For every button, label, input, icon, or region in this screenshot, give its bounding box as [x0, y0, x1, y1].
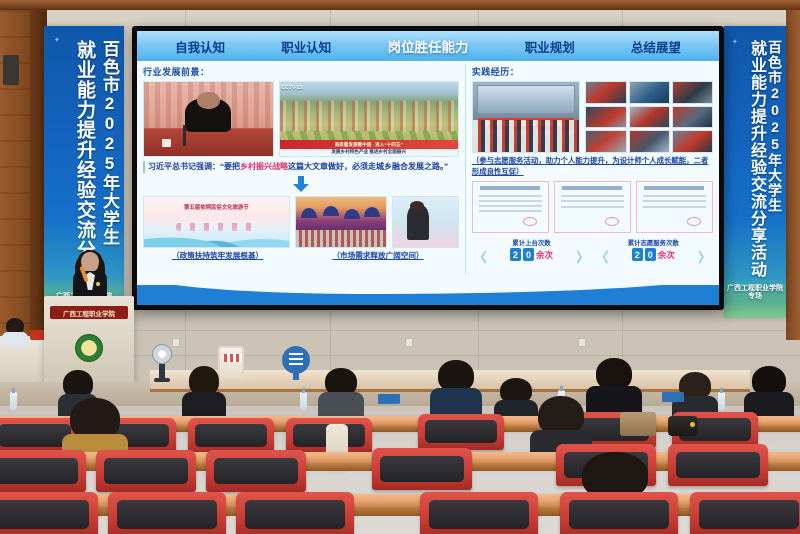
cert-line: [479, 200, 542, 202]
cert-line: [479, 195, 542, 197]
podium-nameplate: 广西工程职业学院: [50, 306, 128, 319]
photo-grid-volunteer-activities: [585, 81, 713, 153]
slide-footer-wave: [137, 285, 719, 305]
chair-pad: [699, 500, 798, 529]
trophy-cup-icon: [152, 344, 172, 364]
chair-pad: [214, 458, 298, 484]
photo-volunteer-group: [472, 81, 581, 153]
slide-nav-item-3-active[interactable]: 岗位胜任能力: [388, 36, 469, 56]
grid-photo: [629, 81, 670, 104]
cert-seal-icon: [605, 217, 619, 226]
stat-label: 累计上台次数: [512, 238, 550, 247]
cert-line: [561, 195, 624, 197]
water-bottle: [10, 392, 17, 410]
grid-photo: [672, 81, 713, 104]
audience-person: [62, 398, 128, 456]
chair-pad: [195, 424, 267, 446]
chair-pad: [0, 424, 71, 446]
village-roofs: [280, 101, 458, 132]
photo-leader-speech: [143, 81, 274, 157]
chair: [0, 492, 98, 534]
performance-crowd: [296, 230, 386, 247]
photo-village-aerial: CCTV-13 高质量发展看中国 · 进入“十四五” 发展乡村特色产业 推进乡村…: [279, 81, 459, 157]
chair: [418, 414, 504, 450]
cert-title-line: [562, 186, 622, 190]
cert-line: [479, 210, 542, 212]
audience-person: [744, 366, 794, 418]
slide-nav-item-2[interactable]: 职业认知: [281, 37, 331, 56]
water-bottle: [718, 392, 725, 410]
cert-line: [479, 205, 542, 207]
leader-quote: 习近平总书记强调：“要把乡村振兴战略这篇大文章做好，必须走城乡融合发展之路。”: [143, 161, 459, 173]
quote-prefix: 习近平总书记强调：: [148, 162, 220, 171]
auditorium-scene: ✦ ✦ 百色市2025年大学生 就业能力提升经验交流分享活动 广西工程职业学院 …: [0, 0, 800, 534]
stat-unit: 余次: [658, 249, 675, 261]
stat-unit: 余次: [536, 249, 553, 261]
chair: [188, 418, 274, 454]
grid-photo: [629, 106, 670, 129]
bracket-left-icon: 〈: [474, 247, 487, 266]
staff-person: [2, 318, 28, 344]
certificate: [636, 181, 713, 233]
cert-seal-icon: [687, 217, 701, 226]
grid-photo: [629, 130, 670, 153]
curtain-stripes: [144, 82, 273, 128]
microphone-icon: [183, 125, 186, 146]
audience-person: [430, 360, 482, 418]
channel-logo: CCTV-13: [282, 85, 303, 91]
chair: [560, 492, 678, 534]
right-caption: （参与志愿服务活动，助力个人能力提升，为设计师个人成长赋能，二者形成良性互促）: [472, 156, 713, 177]
caption-market-demand: （市场需求释放广阔空间）: [297, 250, 459, 261]
chair: [372, 448, 472, 490]
poster-mountains: [144, 222, 289, 247]
grid-photo: [585, 106, 626, 129]
umbrella-icon: [344, 209, 360, 219]
chair: [690, 492, 800, 534]
chair-pad: [0, 458, 78, 484]
trophy: [152, 344, 172, 382]
slide-nav-bar: 自我认知 职业认知 岗位胜任能力 职业规划 总结展望: [137, 31, 719, 61]
slide-nav-item-4[interactable]: 职业规划: [525, 37, 575, 56]
poster-title: 第五届侬垌民俗文化旅游节: [144, 203, 289, 211]
photo-market-booth: [392, 196, 459, 248]
umbrella-icon: [364, 207, 380, 217]
cert-seal-icon: [523, 217, 537, 226]
photo-folk-performance: [295, 196, 387, 248]
quote-rest: 这篇大文章做好，必须走城乡融合发展之路。”: [288, 162, 448, 171]
chair: [0, 450, 86, 492]
stats-row: 〈 〉 累计上台次数 2 0 余次 〈 〉 累计志愿: [472, 238, 713, 261]
quote-highlight: 乡村振兴战略: [240, 162, 288, 171]
grid-photo: [672, 106, 713, 129]
name-card: [662, 392, 684, 402]
left-section-title: 行业发展前景：: [143, 65, 459, 78]
teacup-icon: [162, 139, 171, 147]
chair-pad: [245, 500, 344, 529]
wood-panel-wall-right: [786, 10, 800, 340]
certificate: [554, 181, 631, 233]
left-caption-row: （政策扶持筑牢发展根基） （市场需求释放广阔空间）: [143, 250, 459, 261]
left-photo-row-2: 第五届侬垌民俗文化旅游节: [143, 196, 459, 248]
audience-person: [318, 368, 364, 418]
banner-right-subtitle: 广西工程职业学院 专场: [724, 285, 786, 303]
banner-right-line1: 百色市2025年大学生: [768, 40, 782, 213]
news-caption-bottom: 发展乡村特色产业 推进乡村全面振兴: [280, 149, 458, 155]
slide-right-column: 实践经历：: [465, 65, 713, 287]
chair: [108, 492, 226, 534]
stat-stage-appearances: 〈 〉 累计上台次数 2 0 余次: [474, 238, 590, 261]
certificate: [472, 181, 549, 233]
chair-pad: [569, 500, 668, 529]
certificate-row: [472, 181, 713, 233]
stat-value: 2 0 余次: [510, 248, 553, 261]
school-crest-icon: [75, 334, 103, 362]
audience-person: [586, 358, 642, 418]
cert-line: [643, 206, 706, 208]
right-section-title: 实践经历：: [472, 65, 713, 78]
chair-pad: [429, 500, 528, 529]
chair-pad: [425, 420, 497, 442]
booth-person-head: [410, 201, 424, 211]
water-bottle: [300, 392, 307, 410]
stat-digit: 2: [632, 248, 643, 261]
name-card: [378, 394, 400, 404]
grid-photo: [585, 81, 626, 104]
slide-body: 行业发展前景： CCTV-13: [137, 61, 719, 287]
chair: [96, 450, 196, 492]
lapel-pin-icon: [96, 282, 100, 286]
chair: [236, 492, 354, 534]
stat-digit: 0: [645, 248, 656, 261]
chair: [206, 450, 306, 492]
cert-line: [643, 200, 706, 202]
banner-left-line1: 百色市2025年大学生: [101, 40, 118, 246]
bird-icon: ✦: [732, 38, 738, 46]
stat-digit: 0: [523, 248, 534, 261]
bird-icon: ✦: [54, 36, 60, 44]
umbrella-icon: [301, 208, 317, 218]
photo-festival-poster: 第五届侬垌民俗文化旅游节: [143, 196, 290, 248]
cert-line: [561, 200, 624, 202]
quote-open: “要把: [220, 162, 240, 171]
cert-title-line: [480, 186, 540, 190]
sign-stand: [293, 370, 299, 380]
chair-pad: [676, 452, 760, 478]
wall-outlet: [172, 338, 180, 347]
grid-photo: [672, 130, 713, 153]
slide-nav-item-1[interactable]: 自我认知: [175, 37, 225, 56]
umbrella-icon: [323, 206, 339, 216]
banner-right: ✦ 百色市2025年大学生 就业能力提升经验交流分享活动 广西工程职业学院 专场: [724, 26, 786, 318]
grid-photo: [585, 130, 626, 153]
down-arrow-icon: [293, 176, 309, 192]
backpack: [668, 416, 698, 436]
bracket-left-icon: 〈: [595, 247, 608, 266]
stat-value: 2 0 余次: [632, 248, 675, 261]
trophy-base: [154, 378, 170, 382]
stat-label: 累计志愿服务次数: [628, 238, 679, 247]
handbag: [620, 412, 656, 436]
chair: [420, 492, 538, 534]
volunteer-people: [473, 120, 580, 152]
slide: 自我认知 职业认知 岗位胜任能力 职业规划 总结展望 行业发展前景：: [137, 31, 719, 305]
trophy-stem: [159, 364, 165, 378]
chair: [668, 444, 768, 486]
cert-title-line: [644, 186, 704, 190]
presentation-screen: 自我认知 职业认知 岗位胜任能力 职业规划 总结展望 行业发展前景：: [132, 26, 724, 310]
news-caption-top: 高质量发展看中国 · 进入“十四五”: [280, 142, 458, 148]
chair-pad: [104, 458, 188, 484]
bracket-right-icon: 〉: [576, 247, 589, 266]
audience-person: [182, 366, 226, 418]
wall-outlet: [405, 338, 413, 347]
bracket-right-icon: 〉: [698, 247, 711, 266]
shopfront: [477, 85, 575, 114]
stat-digit: 2: [510, 248, 521, 261]
staff-body: [2, 332, 28, 346]
cert-line: [561, 206, 624, 208]
slide-left-column: 行业发展前景： CCTV-13: [143, 65, 459, 287]
right-photo-row: [472, 81, 713, 153]
slide-nav-item-5[interactable]: 总结展望: [631, 37, 681, 56]
cert-line: [643, 195, 706, 197]
left-photo-row: CCTV-13 高质量发展看中国 · 进入“十四五” 发展乡村特色产业 推进乡村…: [143, 81, 459, 157]
chair-pad: [0, 500, 89, 529]
wall-speaker-icon: [3, 55, 19, 85]
wall-outlet: [578, 338, 586, 347]
banner-right-line2: 就业能力提升经验交流分享活动: [748, 40, 764, 278]
caption-policy-support: （政策扶持筑牢发展根基）: [143, 250, 292, 261]
stat-volunteer-services: 〈 〉 累计志愿服务次数 2 0 余次: [595, 238, 711, 261]
chair-pad: [380, 456, 464, 482]
chair-pad: [117, 500, 216, 529]
